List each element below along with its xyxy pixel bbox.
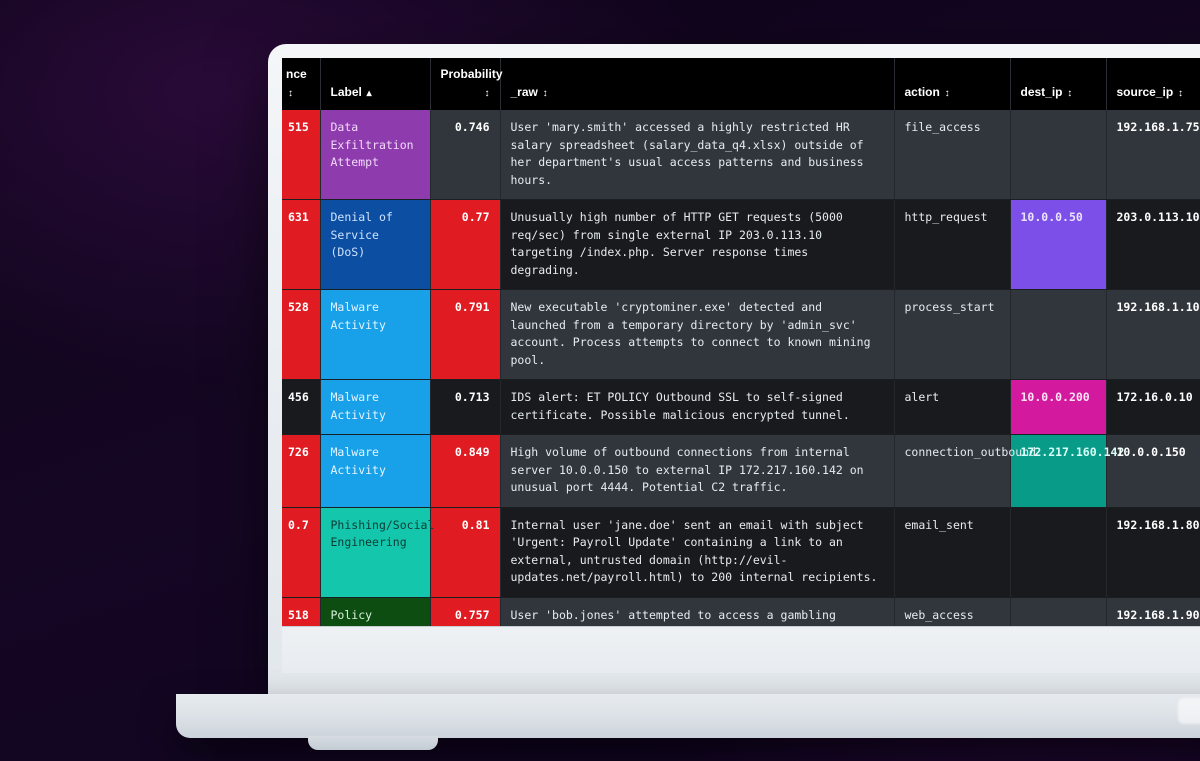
laptop-base-notch [308, 736, 438, 750]
column-header-label[interactable]: Label ▴ [320, 58, 430, 110]
table-row[interactable]: 631Denial of Service (DoS)0.77Unusually … [282, 200, 1200, 290]
cell-probability: 0.81 [430, 507, 500, 597]
cell-source-ip: 192.168.1.75 [1106, 110, 1200, 200]
sort-arrows-icon[interactable]: ↕ [940, 88, 950, 99]
cell-action: process_start [894, 290, 1010, 380]
cell-action: email_sent [894, 507, 1010, 597]
cell-dest-ip: 10.0.0.50 [1010, 200, 1106, 290]
column-header-raw[interactable]: _raw ↕ [500, 58, 894, 110]
table-header-row: nce↕ Label ▴ Probability↕ _raw ↕ action … [282, 58, 1200, 110]
cell-raw: IDS alert: ET POLICY Outbound SSL to sel… [500, 380, 894, 435]
cell-confidence: 515 [282, 110, 320, 200]
cell-confidence: 528 [282, 290, 320, 380]
sort-arrows-icon[interactable]: ↕ [483, 88, 490, 99]
table-header: nce↕ Label ▴ Probability↕ _raw ↕ action … [282, 58, 1200, 110]
cell-source-ip: 203.0.113.10 [1106, 200, 1200, 290]
table-row[interactable]: 0.7Phishing/Social Engineering0.81Intern… [282, 507, 1200, 597]
cell-source-ip: 192.168.1.100 [1106, 290, 1200, 380]
laptop-base-sheen [1178, 698, 1200, 724]
cell-dest-ip: 10.0.0.200 [1010, 380, 1106, 435]
cell-dest-ip: 172.217.160.142 [1010, 435, 1106, 508]
column-header-dest-ip[interactable]: dest_ip ↕ [1010, 58, 1106, 110]
laptop-mockup: nce↕ Label ▴ Probability↕ _raw ↕ action … [268, 44, 1200, 694]
table-row[interactable]: 515Data Exfiltration Attempt0.746User 'm… [282, 110, 1200, 200]
cell-label: Malware Activity [320, 290, 430, 380]
column-header-action[interactable]: action ↕ [894, 58, 1010, 110]
cell-probability: 0.791 [430, 290, 500, 380]
column-header-probability-text: Probability [441, 66, 490, 84]
cell-probability: 0.746 [430, 110, 500, 200]
cell-probability: 0.713 [430, 380, 500, 435]
table-row[interactable]: 528Malware Activity0.791New executable '… [282, 290, 1200, 380]
table-body: 515Data Exfiltration Attempt0.746User 'm… [282, 110, 1200, 673]
table-row[interactable]: 456Malware Activity0.713IDS alert: ET PO… [282, 380, 1200, 435]
cell-label: Phishing/Social Engineering [320, 507, 430, 597]
sort-arrows-icon[interactable]: ↕ [1173, 88, 1183, 99]
column-header-confidence[interactable]: nce↕ [282, 58, 320, 110]
column-header-source-ip[interactable]: source_ip ↕ [1106, 58, 1200, 110]
cell-probability: 0.77 [430, 200, 500, 290]
column-header-text: source_ip [1117, 85, 1174, 99]
cell-label: Malware Activity [320, 380, 430, 435]
cell-dest-ip [1010, 290, 1106, 380]
cell-confidence: 631 [282, 200, 320, 290]
cell-source-ip: 192.168.1.80 [1106, 507, 1200, 597]
column-header-text: dest_ip [1021, 85, 1063, 99]
cell-label: Data Exfiltration Attempt [320, 110, 430, 200]
cell-label: Denial of Service (DoS) [320, 200, 430, 290]
sort-arrows-icon[interactable]: ↕ [1063, 88, 1073, 99]
column-header-text: Label [331, 85, 362, 99]
cell-raw: New executable 'cryptominer.exe' detecte… [500, 290, 894, 380]
cell-confidence: 726 [282, 435, 320, 508]
sort-asc-icon[interactable]: ▴ [362, 88, 372, 99]
cell-label: Malware Activity [320, 435, 430, 508]
cell-raw: High volume of outbound connections from… [500, 435, 894, 508]
cell-raw: Unusually high number of HTTP GET reques… [500, 200, 894, 290]
cell-source-ip: 172.16.0.10 [1106, 380, 1200, 435]
cell-confidence: 456 [282, 380, 320, 435]
cell-action: http_request [894, 200, 1010, 290]
cell-dest-ip [1010, 507, 1106, 597]
sort-arrows-icon[interactable]: ↕ [286, 88, 293, 99]
cell-raw: Internal user 'jane.doe' sent an email w… [500, 507, 894, 597]
table-row[interactable]: 726Malware Activity0.849High volume of o… [282, 435, 1200, 508]
cell-source-ip: 10.0.0.150 [1106, 435, 1200, 508]
cell-raw: User 'mary.smith' accessed a highly rest… [500, 110, 894, 200]
cell-action: alert [894, 380, 1010, 435]
column-header-text: action [905, 85, 940, 99]
cell-action: connection_outbound [894, 435, 1010, 508]
cell-dest-ip [1010, 110, 1106, 200]
laptop-screen: nce↕ Label ▴ Probability↕ _raw ↕ action … [282, 58, 1200, 673]
screen-bottom-area [282, 627, 1200, 673]
column-header-confidence-text: nce [286, 66, 310, 84]
security-events-table: nce↕ Label ▴ Probability↕ _raw ↕ action … [282, 58, 1200, 673]
column-header-text: _raw [511, 85, 538, 99]
column-header-probability[interactable]: Probability↕ [430, 58, 500, 110]
sort-arrows-icon[interactable]: ↕ [538, 88, 548, 99]
cell-action: file_access [894, 110, 1010, 200]
results-table-container[interactable]: nce↕ Label ▴ Probability↕ _raw ↕ action … [282, 58, 1200, 673]
laptop-base [176, 694, 1200, 738]
cell-confidence: 0.7 [282, 507, 320, 597]
cell-probability: 0.849 [430, 435, 500, 508]
